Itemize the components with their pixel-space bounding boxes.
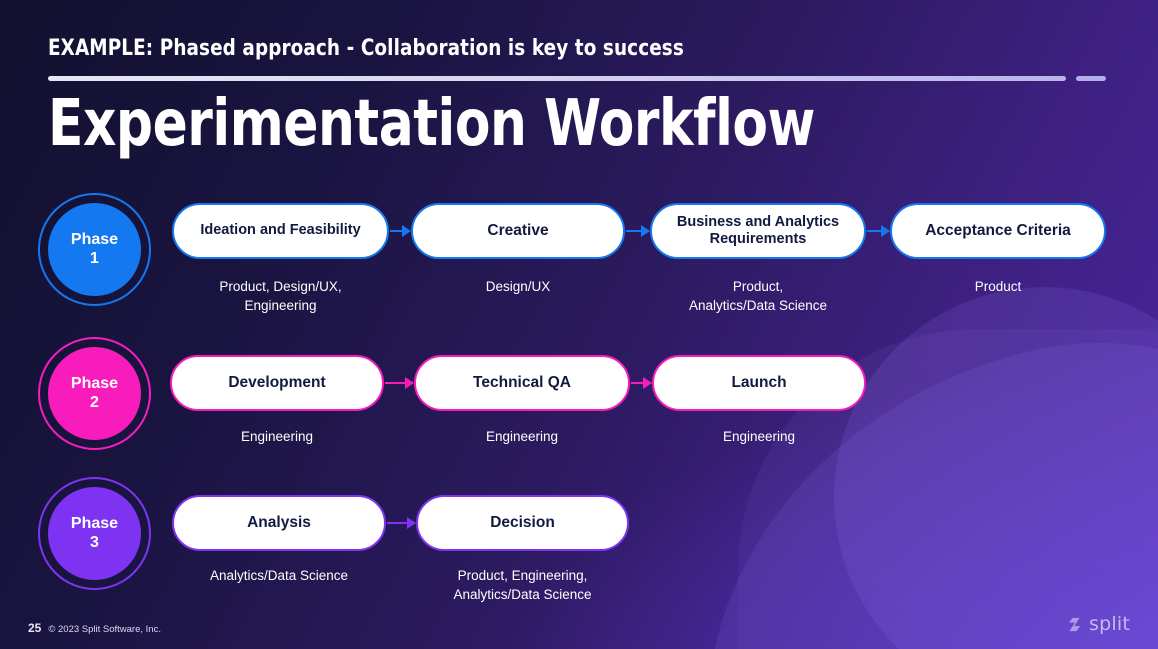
footer-left: 25 © 2023 Split Software, Inc. [28,621,161,635]
split-logo-mark [1066,616,1083,633]
header-divider [48,76,1106,81]
workflow-step-caption: Product [890,277,1106,296]
phase-step-track: DevelopmentEngineeringTechnical QAEngine… [0,337,1158,457]
phase-step-track: AnalysisAnalytics/Data ScienceDecisionPr… [0,477,1158,597]
page-number: 25 [28,621,41,635]
split-logo-text: split [1089,613,1130,635]
workflow-arrow-connector [626,230,649,232]
workflow-arrow-connector [867,230,889,232]
workflow-arrow-connector [390,230,410,232]
copyright-text: © 2023 Split Software, Inc. [48,624,161,635]
workflow-step-caption: Design/UX [411,277,625,296]
workflow-step-pill[interactable]: Analysis [172,495,386,551]
workflow-step-caption: Product, Analytics/Data Science [650,277,866,315]
phase-step-track: Ideation and FeasibilityProduct, Design/… [0,193,1158,313]
workflow-step-pill[interactable]: Creative [411,203,625,259]
slide-canvas: EXAMPLE: Phased approach - Collaboration… [0,0,1158,649]
workflow-step-caption: Analytics/Data Science [172,566,386,585]
workflow-arrow-connector [385,382,413,384]
divider-long-segment [48,76,1066,81]
workflow-step-pill[interactable]: Ideation and Feasibility [172,203,389,259]
workflow-arrow-connector [631,382,651,384]
workflow-step-pill[interactable]: Development [170,355,384,411]
workflow-step-pill[interactable]: Launch [652,355,866,411]
workflow-step-pill[interactable]: Acceptance Criteria [890,203,1106,259]
split-logo: split [1066,613,1130,635]
eyebrow-text: EXAMPLE: Phased approach - Collaboration… [48,36,1036,61]
slide-header: EXAMPLE: Phased approach - Collaboration… [48,36,1110,61]
workflow-step-pill[interactable]: Technical QA [414,355,630,411]
workflow-step-caption: Product, Design/UX, Engineering [172,277,389,315]
divider-short-segment [1076,76,1106,81]
workflow-step-caption: Product, Engineering, Analytics/Data Sci… [416,566,629,604]
workflow-step-pill[interactable]: Business and Analytics Requirements [650,203,866,259]
workflow-step-caption: Engineering [170,427,384,446]
workflow-step-pill[interactable]: Decision [416,495,629,551]
page-title: Experimentation Workflow [48,92,815,156]
workflow-arrow-connector [387,522,415,524]
workflow-step-caption: Engineering [414,427,630,446]
workflow-step-caption: Engineering [652,427,866,446]
